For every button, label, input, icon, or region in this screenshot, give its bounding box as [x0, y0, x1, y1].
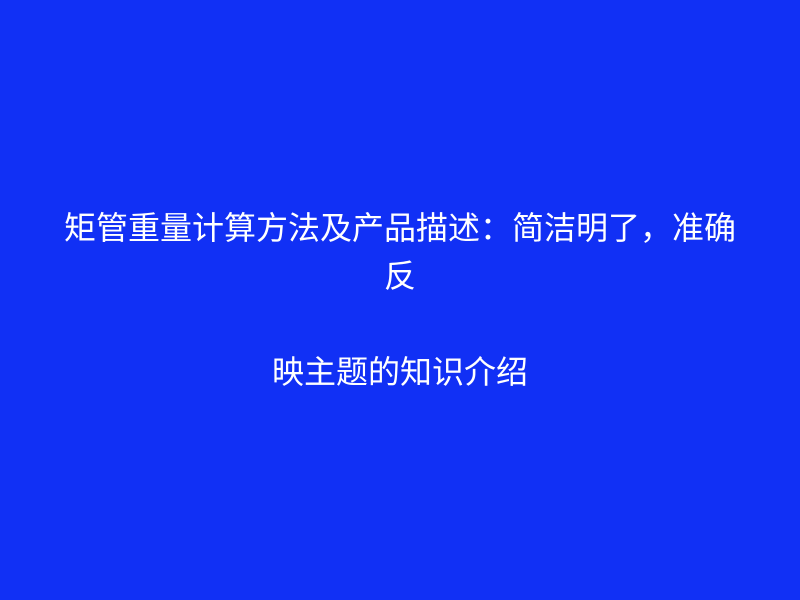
title-banner: 矩管重量计算方法及产品描述：简洁明了，准确反 映主题的知识介绍 [0, 0, 800, 600]
title-line-1: 矩管重量计算方法及产品描述：简洁明了，准确反 [50, 204, 750, 300]
page-title: 矩管重量计算方法及产品描述：简洁明了，准确反 映主题的知识介绍 [50, 156, 750, 444]
title-line-2: 映主题的知识介绍 [50, 348, 750, 396]
